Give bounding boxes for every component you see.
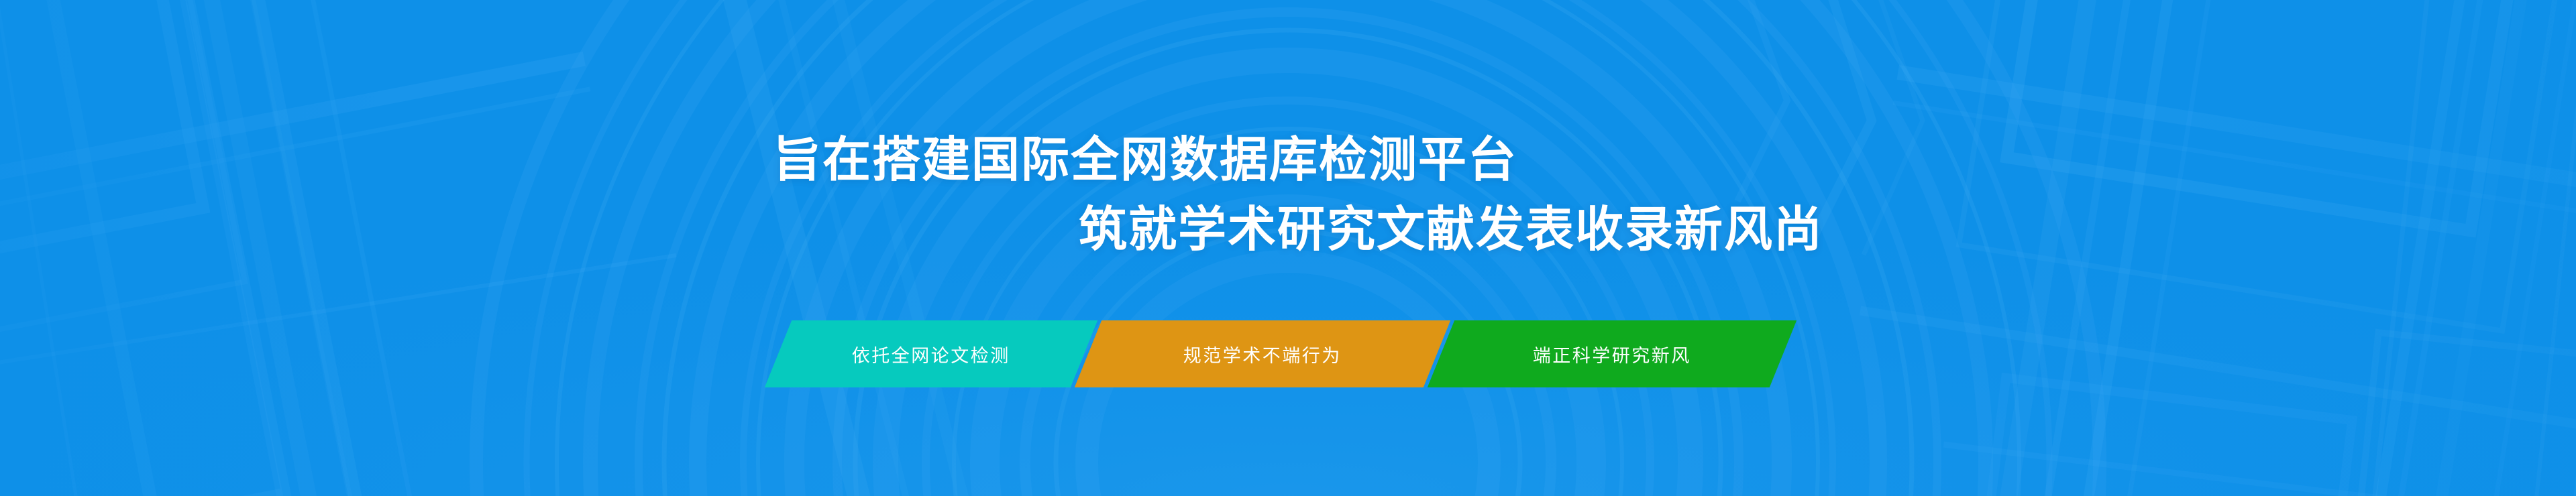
feature-tag-research-ethos-label: 端正科学研究新风 [1533,341,1691,367]
feature-tag-paper-detection[interactable]: 依托全网论文检测 [765,320,1097,387]
feature-tag-misconduct-regulation[interactable]: 规范学术不端行为 [1075,320,1450,387]
feature-tag-row: 依托全网论文检测 规范学术不端行为 端正科学研究新风 [778,320,1783,387]
feature-tag-misconduct-regulation-label: 规范学术不端行为 [1183,341,1342,367]
banner-content: 旨在搭建国际全网数据库检测平台 筑就学术研究文献发表收录新风尚 依托全网论文检测… [0,0,2576,496]
headline-line-2: 筑就学术研究文献发表收录新风尚 [1079,206,1823,254]
feature-tag-paper-detection-label: 依托全网论文检测 [852,341,1010,367]
feature-tag-research-ethos[interactable]: 端正科学研究新风 [1428,320,1796,387]
promo-banner: 旨在搭建国际全网数据库检测平台 筑就学术研究文献发表收录新风尚 依托全网论文检测… [0,0,2576,496]
headline-line-1: 旨在搭建国际全网数据库检测平台 [773,136,1517,184]
